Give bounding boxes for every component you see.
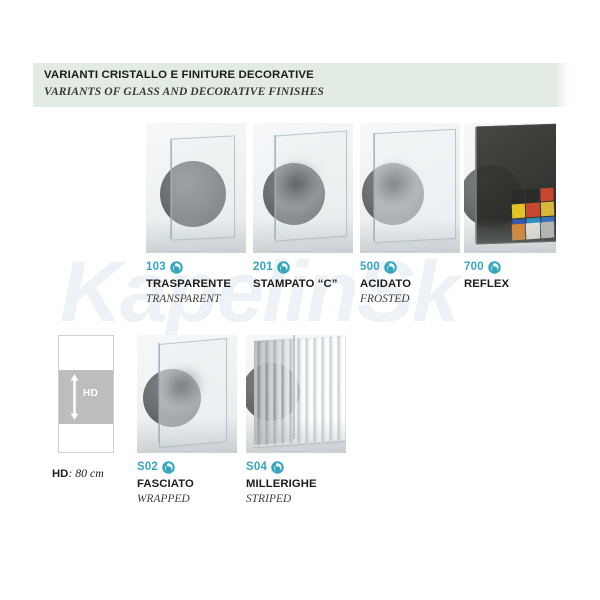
page-title: VARIANTI CRISTALLO E FINITURE DECORATIVE xyxy=(44,69,314,81)
hd-caption-label: HD xyxy=(52,468,68,480)
sample-thumbnail-fasciato[interactable] xyxy=(137,335,237,453)
sample-thumbnail-transparent[interactable] xyxy=(146,123,246,253)
photo-floor-shadow xyxy=(253,219,353,253)
glass-droplet-icon xyxy=(488,261,501,274)
sample-thumbnail-stampato-c[interactable] xyxy=(253,123,353,253)
photo-floor-shadow xyxy=(246,419,346,453)
sample-code: 201 xyxy=(253,261,273,273)
sample-name-it: ACIDATO xyxy=(360,278,411,290)
photo-floor-shadow xyxy=(464,219,556,253)
hd-diagram-label: HD xyxy=(83,388,98,399)
photo-floor-shadow xyxy=(146,219,246,253)
sample-name-it: TRASPARENTE xyxy=(146,278,231,290)
hd-double-arrow-icon xyxy=(70,374,79,420)
sample-name-en: STRIPED xyxy=(246,493,291,505)
section-header-band: VARIANTI CRISTALLO E FINITURE DECORATIVE… xyxy=(33,63,555,107)
sample-code: 500 xyxy=(360,261,380,273)
sample-name-en: FROSTED xyxy=(360,293,410,305)
sample-code: 103 xyxy=(146,261,166,273)
hd-caption-value: : 80 cm xyxy=(68,466,103,480)
sample-code-row: S04 xyxy=(246,459,284,475)
sample-name-it: REFLEX xyxy=(464,278,509,290)
photo-floor-shadow xyxy=(137,419,237,453)
sample-thumbnail-reflex[interactable] xyxy=(464,123,556,253)
glass-droplet-icon xyxy=(271,461,284,474)
glass-droplet-icon xyxy=(277,261,290,274)
sample-code-row: 201 xyxy=(253,259,290,275)
sample-name-en: TRANSPARENT xyxy=(146,293,220,305)
glass-droplet-icon xyxy=(384,261,397,274)
sample-thumbnail-millerighe[interactable] xyxy=(246,335,346,453)
sample-code-row: 700 xyxy=(464,259,501,275)
sample-code-row: S02 xyxy=(137,459,175,475)
sample-thumbnail-acidato[interactable] xyxy=(360,123,460,253)
sample-code-row: 103 xyxy=(146,259,183,275)
glass-droplet-icon xyxy=(162,461,175,474)
sample-name-it: FASCIATO xyxy=(137,478,194,490)
sample-code: 700 xyxy=(464,261,484,273)
sample-name-en: WRAPPED xyxy=(137,493,190,505)
photo-floor-shadow xyxy=(360,219,460,253)
hd-height-diagram: HD xyxy=(58,335,114,453)
page-subtitle: VARIANTS OF GLASS AND DECORATIVE FINISHE… xyxy=(44,85,324,98)
hd-caption: HD: 80 cm xyxy=(52,466,104,481)
sample-name-it: STAMPATO “C” xyxy=(253,278,337,290)
sample-code-row: 500 xyxy=(360,259,397,275)
sample-name-it: MILLERIGHE xyxy=(246,478,317,490)
glass-droplet-icon xyxy=(170,261,183,274)
sample-code: S04 xyxy=(246,461,267,473)
sample-code: S02 xyxy=(137,461,158,473)
